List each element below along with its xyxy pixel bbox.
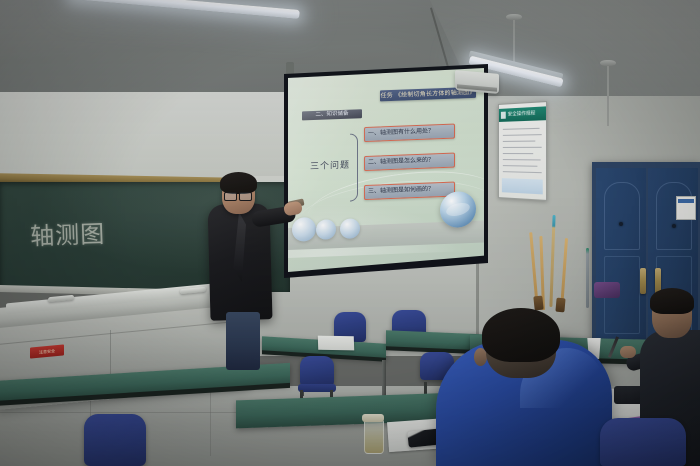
student-front-hair bbox=[482, 308, 560, 362]
presenter-legs bbox=[226, 312, 260, 370]
chair-back-front-right[interactable] bbox=[600, 418, 686, 466]
slide-brace bbox=[350, 133, 358, 201]
door-sign bbox=[676, 196, 696, 220]
blackboard-chalk-text: 轴测图 bbox=[30, 213, 121, 246]
desk-leg-2 bbox=[382, 360, 386, 398]
tea-jar-lid bbox=[362, 414, 384, 422]
purple-bag bbox=[594, 282, 620, 298]
chair-back-3[interactable] bbox=[300, 356, 334, 386]
wall-notice-board: 安全操作规程 bbox=[498, 101, 547, 201]
door-left-leaf[interactable] bbox=[596, 168, 646, 346]
presenter-glasses bbox=[224, 192, 252, 199]
notice-board-footer-block bbox=[502, 178, 543, 194]
slide-question-2: 二、轴测图是怎么来的？ bbox=[364, 153, 455, 171]
broom-head-2 bbox=[555, 298, 565, 313]
projector-screen: 任务 《绘制切角长方体的轴测图》 二、知识储备 三个问题 一、轴测图有什么用处？… bbox=[288, 68, 484, 272]
slide-question-1: 一、轴测图有什么用处？ bbox=[364, 124, 455, 142]
metal-pole bbox=[586, 248, 589, 308]
student-right-hair bbox=[650, 288, 694, 314]
classroom-photo: 轴测图 任务 《绘制切角长方体的轴测图》 二、知识储备 三个问题 一、轴测图有什… bbox=[0, 0, 700, 466]
presentation-slide: 任务 《绘制切角长方体的轴测图》 二、知识储备 三个问题 一、轴测图有什么用处？… bbox=[288, 68, 484, 272]
slide-section-heading: 二、知识储备 bbox=[302, 109, 362, 120]
teacher-desk-seam-2 bbox=[110, 330, 111, 376]
presenter-hair bbox=[220, 172, 257, 194]
tea-jar bbox=[364, 420, 384, 454]
slide-group-label: 三个问题 bbox=[310, 158, 350, 173]
student-right-hand bbox=[620, 346, 636, 358]
paper-on-desk bbox=[318, 336, 354, 351]
notice-board-header: 安全操作规程 bbox=[499, 106, 547, 122]
broom-head-1 bbox=[533, 296, 543, 311]
door-handle-left[interactable] bbox=[640, 268, 646, 294]
chair-back-front-left[interactable] bbox=[84, 414, 146, 466]
